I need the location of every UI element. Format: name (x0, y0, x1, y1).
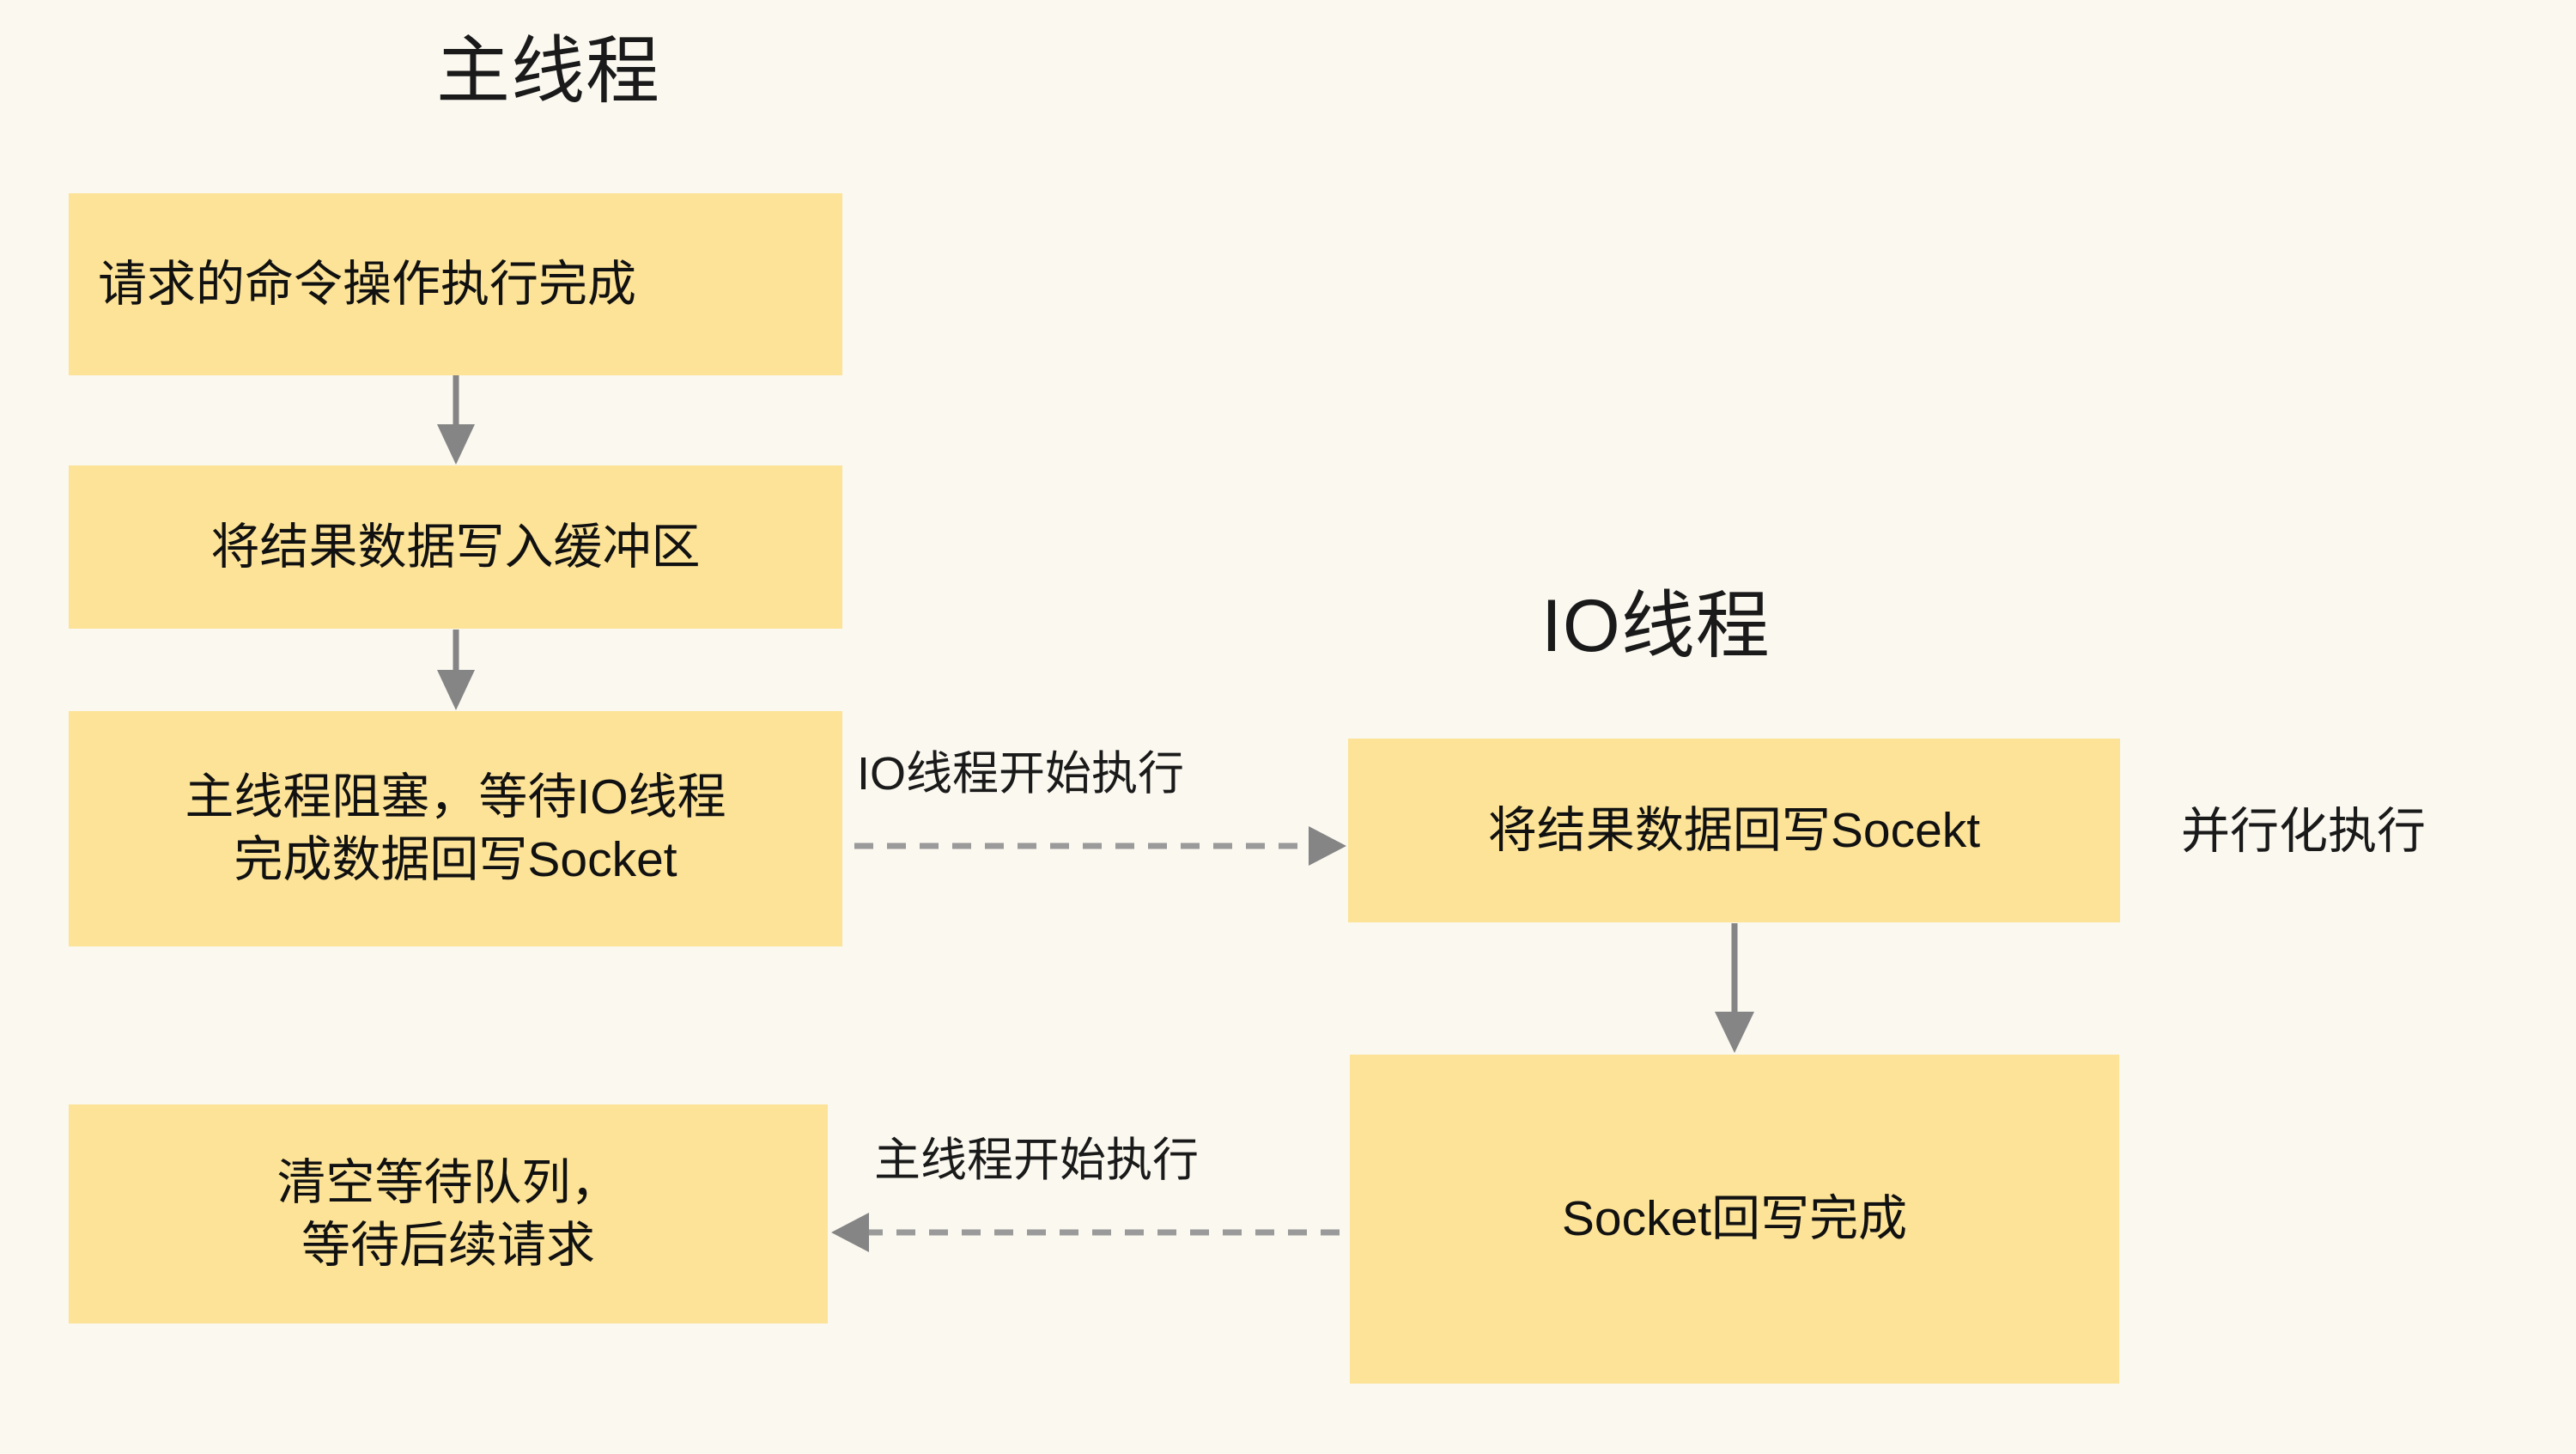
diagram-canvas: 主线程 IO线程 请求的命令操作执行完成 将结果数据写入缓冲区 主线程阻塞，等待… (0, 0, 2576, 1454)
arrow-io-to-main-dashed (0, 0, 2576, 1454)
